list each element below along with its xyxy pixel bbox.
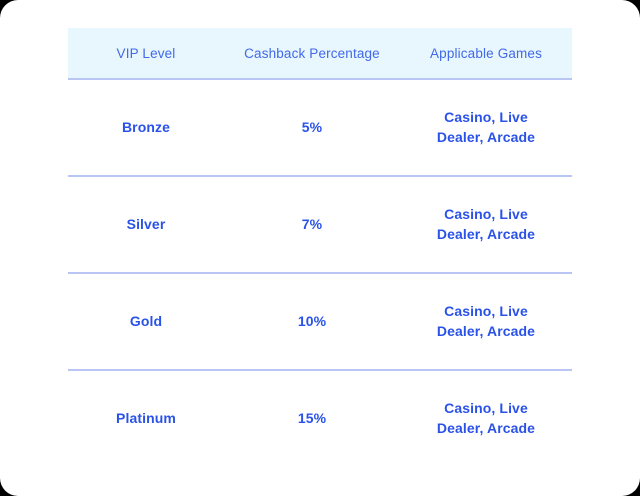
table-body: Bronze 5% Casino, Live Dealer, Arcade Si… (68, 79, 572, 466)
applicable-games-line-1: Casino, Live (404, 399, 568, 419)
table-row: Silver 7% Casino, Live Dealer, Arcade (68, 176, 572, 273)
column-header-applicable-games: Applicable Games (400, 28, 572, 79)
table-header-row: VIP Level Cashback Percentage Applicable… (68, 28, 572, 79)
applicable-games-line-1: Casino, Live (404, 108, 568, 128)
applicable-games-line-2: Dealer, Arcade (404, 225, 568, 245)
table-header: VIP Level Cashback Percentage Applicable… (68, 28, 572, 79)
applicable-games-line-2: Dealer, Arcade (404, 322, 568, 342)
cell-applicable-games: Casino, Live Dealer, Arcade (400, 176, 572, 273)
table-row: Bronze 5% Casino, Live Dealer, Arcade (68, 79, 572, 176)
column-header-vip-level: VIP Level (68, 28, 224, 79)
applicable-games-line-2: Dealer, Arcade (404, 419, 568, 439)
cell-vip-level: Silver (68, 176, 224, 273)
applicable-games-line-1: Casino, Live (404, 205, 568, 225)
applicable-games-line-2: Dealer, Arcade (404, 128, 568, 148)
applicable-games-line-1: Casino, Live (404, 302, 568, 322)
cell-cashback-percentage: 7% (224, 176, 400, 273)
cell-applicable-games: Casino, Live Dealer, Arcade (400, 273, 572, 370)
cell-vip-level: Bronze (68, 79, 224, 176)
content-card: VIP Level Cashback Percentage Applicable… (0, 0, 640, 496)
column-header-cashback-percentage: Cashback Percentage (224, 28, 400, 79)
cell-cashback-percentage: 10% (224, 273, 400, 370)
cell-vip-level: Gold (68, 273, 224, 370)
cell-applicable-games: Casino, Live Dealer, Arcade (400, 79, 572, 176)
cell-vip-level: Platinum (68, 370, 224, 466)
cell-cashback-percentage: 5% (224, 79, 400, 176)
table-row: Gold 10% Casino, Live Dealer, Arcade (68, 273, 572, 370)
vip-cashback-table: VIP Level Cashback Percentage Applicable… (68, 28, 572, 466)
cell-applicable-games: Casino, Live Dealer, Arcade (400, 370, 572, 466)
cell-cashback-percentage: 15% (224, 370, 400, 466)
table-row: Platinum 15% Casino, Live Dealer, Arcade (68, 370, 572, 466)
vip-cashback-table-container: VIP Level Cashback Percentage Applicable… (68, 28, 572, 466)
